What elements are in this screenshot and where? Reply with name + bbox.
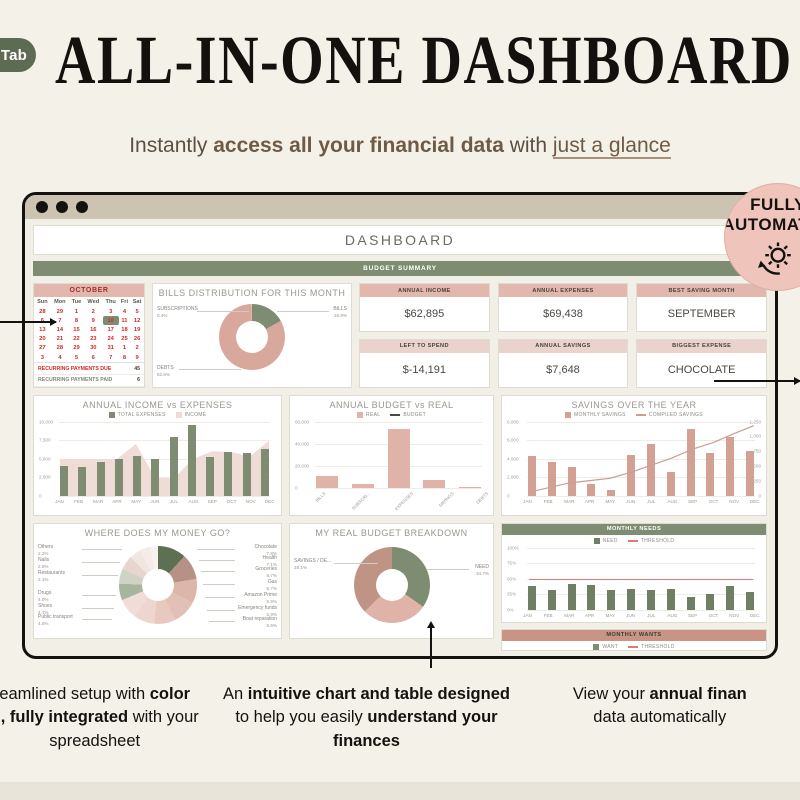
- calendar-day[interactable]: 8: [69, 316, 84, 325]
- x-tick-label: MAY: [131, 499, 140, 504]
- monthly-needs-plot: 0%25%50%75%100%: [507, 548, 761, 610]
- x-tick-label: MAR: [564, 613, 573, 618]
- page-subtitle: Instantly access all your financial data…: [0, 134, 800, 158]
- calendar-day[interactable]: 23: [84, 335, 103, 344]
- money-label: Nails2.9%: [38, 557, 49, 571]
- budget-label-need: NEED34.7%: [475, 564, 489, 578]
- x-tick-label: DEC: [265, 499, 274, 504]
- line-series: [528, 422, 754, 496]
- x-tick-label: EXPENSES: [394, 491, 425, 522]
- monthly-needs-title: MONTHLY NEEDS: [502, 524, 766, 535]
- subtitle-underlined: just a glance: [553, 134, 671, 159]
- calendar-panel: OCTOBER SunMonTueWedThuFriSat 2829123456…: [33, 283, 145, 388]
- legend-need: NEED: [594, 538, 618, 544]
- bills-distribution-card: BILLS DISTRIBUTION FOR THIS MONTH SUBSCR…: [152, 283, 352, 388]
- calendar-week: 20212223242526: [34, 335, 144, 344]
- x-tick-label: JUN: [626, 613, 635, 618]
- bar: [60, 466, 68, 495]
- window-titlebar: [25, 195, 775, 219]
- kpi-card: BEST SAVING MONTHSEPTEMBER: [636, 283, 767, 332]
- bar: [170, 437, 178, 496]
- kpi-label: BIGGEST EXPENSE: [637, 340, 766, 353]
- budget-leader-savings: [334, 563, 378, 564]
- calendar-day[interactable]: 13: [34, 325, 51, 334]
- dashboard-screen: DASHBOARD BUDGET SUMMARY OCTOBER SunMonT…: [25, 219, 775, 656]
- calendar-week: 282912345: [34, 307, 144, 316]
- y-tick-label: 0: [39, 493, 42, 498]
- calendar-day[interactable]: 9: [130, 353, 144, 362]
- monthly-needs-card: MONTHLY NEEDS NEED THRESHOLD 0%25%50%75%…: [501, 523, 767, 623]
- money-label: Boat reparation5.5%: [243, 616, 277, 630]
- y-tick-label: 2,500: [39, 475, 51, 480]
- tab-badge-label: Tab: [1, 47, 27, 64]
- bar: [647, 590, 655, 610]
- kpi-value: $7,648: [499, 353, 628, 387]
- x-tick-label: JUN: [150, 499, 159, 504]
- calendar-day[interactable]: 2: [130, 344, 144, 353]
- bar: [261, 449, 269, 496]
- bar: [133, 456, 141, 496]
- calendar-footer: RECURRING PAYMENTS DUE45RECURRING PAYMEN…: [34, 362, 144, 387]
- x-tick-label: APR: [112, 499, 121, 504]
- y-tick-label-right: 250: [753, 478, 761, 483]
- x-tick-label: SEP: [688, 613, 697, 618]
- calendar-day[interactable]: 19: [130, 325, 144, 334]
- y-tick-label-right: 0: [758, 493, 761, 498]
- caption-center-bold-3: finances: [333, 732, 400, 750]
- x-tick-label: JUL: [647, 613, 656, 618]
- caption-left-text-3: spreadsheet: [49, 732, 140, 750]
- gridline: [527, 610, 755, 611]
- annual-budget-vs-real-xaxis: BILLSSUBSCRI...EXPENSESSAVINGSDEBTS: [311, 491, 486, 511]
- monthly-needs-xaxis: JANFEBMARAPRMAYJUNJULAUGSEPOCTNOVDEC: [523, 613, 759, 618]
- money-label: Gas6.7%: [267, 579, 277, 593]
- money-label: Public transport4.5%: [38, 614, 73, 628]
- annotation-arrow-budget-breakdown: [430, 628, 432, 668]
- x-tick-label: DEBTS: [476, 491, 500, 515]
- calendar-day-today[interactable]: 10: [103, 316, 119, 325]
- calendar-footer-value: 45: [134, 366, 140, 372]
- calendar-table: SunMonTueWedThuFriSat 282912345678910111…: [34, 297, 144, 362]
- savings-over-the-year-title: SAVINGS OVER THE YEAR: [502, 396, 766, 411]
- kpi-grid: ANNUAL INCOME$62,895ANNUAL EXPENSES$69,4…: [359, 283, 767, 388]
- annual-income-vs-expenses-plot: 02,5005,0007,50010,000: [39, 422, 276, 496]
- kpi-card: ANNUAL SAVINGS$7,648: [498, 339, 629, 388]
- x-tick-label: OCT: [709, 499, 718, 504]
- bar: [528, 586, 536, 610]
- caption-center-bold-2: understand your: [367, 708, 497, 726]
- window-maximize-icon[interactable]: [76, 201, 88, 213]
- kpi-card: ANNUAL EXPENSES$69,438: [498, 283, 629, 332]
- x-tick-label: SEP: [688, 499, 697, 504]
- caption-center-bold-1: intuitive chart and table designed: [248, 685, 510, 703]
- annual-income-vs-expenses-card: ANNUAL INCOME vs EXPENSES TOTAL EXPENSES…: [33, 395, 282, 516]
- x-tick-label: DEC: [750, 613, 759, 618]
- bar: [607, 590, 615, 610]
- badge-line-1: FULLY: [750, 195, 800, 215]
- annotation-arrow-calendar: [0, 321, 56, 323]
- y-tick-label: 6,000: [507, 438, 519, 443]
- money-leader: [197, 549, 235, 550]
- caption-right-text-2: data automatically: [593, 708, 726, 726]
- money-leader: [203, 584, 235, 585]
- x-tick-label: APR: [585, 499, 594, 504]
- dashboard-window: DASHBOARD BUDGET SUMMARY OCTOBER SunMonT…: [22, 192, 778, 659]
- budget-summary-bar: BUDGET SUMMARY: [33, 261, 767, 276]
- calendar-day[interactable]: 15: [69, 325, 84, 334]
- y-tick-label: 0: [507, 493, 510, 498]
- bar: [746, 592, 754, 609]
- x-tick-label: FEB: [74, 499, 83, 504]
- bar: [568, 584, 576, 609]
- calendar-day[interactable]: 8: [119, 353, 130, 362]
- kpi-value: $62,895: [360, 297, 489, 331]
- bar: [224, 452, 232, 495]
- calendar-day[interactable]: 1: [119, 344, 130, 353]
- page-title: ALL-IN-ONE DASHBOARD: [55, 22, 755, 100]
- calendar-day[interactable]: 2: [84, 307, 103, 316]
- calendar-week: 3456789: [34, 353, 144, 362]
- threshold-line: [529, 579, 753, 581]
- kpi-label: BEST SAVING MONTH: [637, 284, 766, 297]
- money-leader: [205, 597, 235, 598]
- bar-series: [316, 422, 481, 488]
- y-tick-label: 60,000: [295, 419, 309, 424]
- caption-left-bold-2: g, fully integrated: [0, 708, 128, 726]
- calendar-footer-label: RECURRING PAYMENTS DUE: [38, 366, 111, 372]
- x-tick-label: OCT: [227, 499, 236, 504]
- calendar-day[interactable]: 21: [51, 335, 69, 344]
- bar: [687, 597, 695, 610]
- annual-income-vs-expenses-legend: TOTAL EXPENSES INCOME: [34, 412, 281, 418]
- bar: [78, 467, 86, 495]
- legend-total-expenses: TOTAL EXPENSES: [109, 412, 166, 418]
- bar: [97, 462, 105, 496]
- my-real-budget-breakdown-card: MY REAL BUDGET BREAKDOWN SAVINGS / DE...…: [289, 523, 494, 639]
- legend-budget: BUDGET: [390, 412, 426, 418]
- legend-wants-threshold: THRESHOLD: [628, 644, 675, 650]
- calendar-footer-label: RECURRING PAYMENTS PAID: [38, 377, 112, 383]
- monthly-wants-title: MONTHLY WANTS: [502, 630, 766, 641]
- money-label: Amazon Prime5.9%: [244, 592, 277, 606]
- y-tick-label: 5,000: [39, 456, 51, 461]
- kpi-label: ANNUAL SAVINGS: [499, 340, 628, 353]
- y-tick-label: 75%: [507, 561, 516, 566]
- caption-row: eamlined setup with color g, fully integ…: [0, 683, 800, 753]
- money-label: Drugs4.0%: [38, 590, 51, 604]
- y-tick-label: 50%: [507, 576, 516, 581]
- money-leader: [207, 610, 235, 611]
- x-tick-label: AUG: [667, 499, 676, 504]
- calendar-day[interactable]: 9: [84, 316, 103, 325]
- x-tick-label: JAN: [55, 499, 64, 504]
- calendar-day[interactable]: 6: [84, 353, 103, 362]
- monthly-wants-legend: WANT THRESHOLD: [502, 644, 766, 650]
- window-minimize-icon[interactable]: [56, 201, 68, 213]
- money-leader: [209, 621, 235, 622]
- calendar-day[interactable]: 12: [130, 316, 144, 325]
- bar: [151, 459, 159, 496]
- y-tick-label: 8,000: [507, 419, 519, 424]
- calendar-week: 272829303112: [34, 344, 144, 353]
- y-tick-label: 20,000: [295, 463, 309, 468]
- x-tick-label: NOV: [729, 499, 738, 504]
- x-tick-label: OCT: [709, 613, 718, 618]
- calendar-day[interactable]: 30: [84, 344, 103, 353]
- y-tick-label: 40,000: [295, 441, 309, 446]
- calendar-day[interactable]: 29: [51, 307, 69, 316]
- monthly-wants-card: MONTHLY WANTS WANT THRESHOLD: [501, 629, 767, 651]
- money-leader: [82, 595, 116, 596]
- calendar-day[interactable]: 16: [84, 325, 103, 334]
- calendar-day[interactable]: 25: [119, 335, 130, 344]
- y-tick-label: 10,000: [39, 419, 53, 424]
- subtitle-part-2: with: [504, 134, 553, 157]
- bills-label-bills: BILLS16.8%: [333, 306, 347, 320]
- calendar-day[interactable]: 17: [103, 325, 119, 334]
- subtitle-highlight: access all your financial data: [213, 134, 504, 157]
- calendar-day[interactable]: 27: [34, 344, 51, 353]
- calendar-day[interactable]: 11: [119, 316, 130, 325]
- bills-donut: [219, 304, 285, 370]
- calendar-day[interactable]: 4: [119, 307, 130, 316]
- bills-distribution-title: BILLS DISTRIBUTION FOR THIS MONTH: [153, 284, 351, 299]
- money-label: Others2.2%: [38, 544, 53, 558]
- money-leader: [82, 575, 118, 576]
- kpi-value: SEPTEMBER: [637, 297, 766, 331]
- x-tick-label: BILLS: [315, 491, 338, 514]
- x-tick-label: AUG: [667, 613, 676, 618]
- y-tick-label: 4,000: [507, 456, 519, 461]
- x-tick-label: FEB: [544, 613, 553, 618]
- tab-badge: Tab: [0, 38, 36, 72]
- savings-over-the-year-card: SAVINGS OVER THE YEAR MONTHLY SAVINGS CO…: [501, 395, 767, 516]
- y-tick-label: 0%: [507, 607, 514, 612]
- annual-income-vs-expenses-title: ANNUAL INCOME vs EXPENSES: [34, 396, 281, 411]
- annual-budget-vs-real-title: ANNUAL BUDGET vs REAL: [290, 396, 493, 411]
- annotation-arrow-kpi: [714, 380, 800, 382]
- x-tick-label: NOV: [246, 499, 255, 504]
- bar: [115, 459, 123, 496]
- calendar-day[interactable]: 7: [103, 353, 119, 362]
- calendar-weekday: Tue: [69, 297, 84, 307]
- caption-left: eamlined setup with color g, fully integ…: [0, 683, 221, 753]
- calendar-day[interactable]: 5: [69, 353, 84, 362]
- bar-series: [60, 422, 269, 496]
- annual-budget-vs-real-legend: REAL BUDGET: [290, 412, 493, 418]
- window-close-icon[interactable]: [36, 201, 48, 213]
- y-tick-label: 7,500: [39, 438, 51, 443]
- calendar-day[interactable]: 5: [130, 307, 144, 316]
- money-donut: [119, 546, 197, 624]
- money-label: Groceries6.7%: [255, 566, 277, 580]
- calendar-weekday: Thu: [103, 297, 119, 307]
- calendar-day[interactable]: 26: [130, 335, 144, 344]
- charts-row-2: WHERE DOES MY MONEY GO? Others2.2%Nails2…: [33, 523, 767, 651]
- y-tick-label-right: 750: [753, 449, 761, 454]
- footer-strip: [0, 782, 800, 800]
- caption-center-text-1: An: [223, 685, 248, 703]
- charts-row-1: ANNUAL INCOME vs EXPENSES TOTAL EXPENSES…: [33, 395, 767, 516]
- where-does-my-money-go-title: WHERE DOES MY MONEY GO?: [34, 524, 281, 539]
- x-tick-label: SUBSCRI...: [350, 491, 381, 522]
- savings-over-the-year-xaxis: JANFEBMARAPRMAYJUNJULAUGSEPOCTNOVDEC: [523, 499, 759, 504]
- monthly-needs-legend: NEED THRESHOLD: [502, 538, 766, 544]
- caption-right-bold-1: annual finan: [650, 685, 747, 703]
- x-tick-label: DEC: [750, 499, 759, 504]
- bar: [587, 585, 595, 610]
- x-tick-label: APR: [585, 613, 594, 618]
- kpi-label: ANNUAL EXPENSES: [499, 284, 628, 297]
- kpi-value: $69,438: [499, 297, 628, 331]
- budget-label-savings: SAVINGS / DE...28.1%: [294, 558, 331, 572]
- savings-over-the-year-plot: 02,0004,0006,0008,00002505007501,0001,25…: [507, 422, 761, 496]
- calendar-day[interactable]: 24: [103, 335, 119, 344]
- bar: [459, 487, 481, 488]
- kpi-value: $-14,191: [360, 353, 489, 387]
- calendar-day[interactable]: 22: [69, 335, 84, 344]
- dashboard-title: DASHBOARD: [345, 232, 455, 248]
- calendar-day[interactable]: 18: [119, 325, 130, 334]
- calendar-footer-row: RECURRING PAYMENTS PAID6: [34, 375, 144, 387]
- x-tick-label: MAY: [606, 499, 615, 504]
- calendar-weekday: Sun: [34, 297, 51, 307]
- calendar-footer-value: 6: [137, 377, 140, 383]
- y-tick-label-right: 500: [753, 464, 761, 469]
- bills-leader-debts: [179, 369, 241, 370]
- legend-threshold: THRESHOLD: [628, 538, 675, 544]
- x-tick-label: SEP: [208, 499, 217, 504]
- caption-left-bold-1: color: [150, 685, 190, 703]
- calendar-month: OCTOBER: [34, 284, 144, 297]
- gridline: [59, 496, 270, 497]
- caption-center: An intuitive chart and table designed to…: [221, 683, 511, 753]
- annual-income-vs-expenses-xaxis: JANFEBMARAPRMAYJUNJULAUGSEPOCTNOVDEC: [55, 499, 274, 504]
- bills-label-debts: DEBTS82.8%: [157, 365, 174, 379]
- dashboard-header: DASHBOARD: [33, 225, 767, 255]
- caption-left-text-2: with your: [128, 708, 199, 726]
- x-tick-label: JAN: [523, 613, 532, 618]
- bar: [706, 594, 714, 610]
- annual-budget-vs-real-card: ANNUAL BUDGET vs REAL REAL BUDGET 020,00…: [289, 395, 494, 516]
- legend-want: WANT: [593, 644, 618, 650]
- calendar-day[interactable]: 1: [69, 307, 84, 316]
- kpi-card: LEFT TO SPEND$-14,191: [359, 339, 490, 388]
- x-tick-label: MAR: [93, 499, 102, 504]
- kpi-label: ANNUAL INCOME: [360, 284, 489, 297]
- money-label: Restaurants3.1%: [38, 570, 65, 584]
- bar: [548, 590, 556, 610]
- calendar-footer-row: RECURRING PAYMENTS DUE45: [34, 363, 144, 375]
- calendar-day[interactable]: 28: [51, 344, 69, 353]
- y-tick-label: 25%: [507, 592, 516, 597]
- money-leader: [82, 619, 112, 620]
- y-tick-label: 0: [295, 485, 298, 490]
- bar: [627, 589, 635, 610]
- legend-real: REAL: [357, 412, 380, 418]
- calendar-week: 13141516171819: [34, 325, 144, 334]
- calendar-day[interactable]: 31: [103, 344, 119, 353]
- monthly-panels: MONTHLY NEEDS NEED THRESHOLD 0%25%50%75%…: [501, 523, 767, 651]
- annual-budget-vs-real-plot: 020,00040,00060,000: [295, 422, 488, 488]
- x-tick-label: NOV: [729, 613, 738, 618]
- savings-over-the-year-legend: MONTHLY SAVINGS COMPILED SAVINGS: [502, 412, 766, 418]
- calendar-day[interactable]: 14: [51, 325, 69, 334]
- caption-left-text-1: eamlined setup with: [0, 685, 150, 703]
- calendar-day[interactable]: 3: [34, 353, 51, 362]
- y-tick-label: 100%: [507, 545, 519, 550]
- bar: [423, 480, 445, 488]
- my-real-budget-breakdown-title: MY REAL BUDGET BREAKDOWN: [290, 524, 493, 539]
- x-tick-label: JUL: [169, 499, 178, 504]
- x-tick-label: JAN: [523, 499, 532, 504]
- calendar-day[interactable]: 28: [34, 307, 51, 316]
- legend-monthly-savings: MONTHLY SAVINGS: [565, 412, 626, 418]
- calendar-weekday: Fri: [119, 297, 130, 307]
- bills-leader-bills: [277, 311, 329, 312]
- money-leader: [82, 608, 114, 609]
- bar: [352, 484, 374, 488]
- calendar-day[interactable]: 29: [69, 344, 84, 353]
- x-tick-label: JUN: [626, 499, 635, 504]
- subtitle-part-1: Instantly: [129, 134, 213, 157]
- calendar-day[interactable]: 3: [103, 307, 119, 316]
- calendar-day[interactable]: 4: [51, 353, 69, 362]
- budget-leader-need: [427, 569, 469, 570]
- gridline: [527, 496, 755, 497]
- gear-refresh-icon: [756, 237, 800, 277]
- bills-label-subscriptions: SUBSCRIPTIONS0.4%: [157, 306, 198, 320]
- budget-summary-label: BUDGET SUMMARY: [363, 265, 437, 272]
- bar: [316, 476, 338, 488]
- where-does-my-money-go-card: WHERE DOES MY MONEY GO? Others2.2%Nails2…: [33, 523, 282, 639]
- kpi-card: ANNUAL INCOME$62,895: [359, 283, 490, 332]
- calendar-weekday: Mon: [51, 297, 69, 307]
- calendar-day[interactable]: 20: [34, 335, 51, 344]
- x-tick-label: MAR: [564, 499, 573, 504]
- kpi-label: LEFT TO SPEND: [360, 340, 489, 353]
- money-leader: [82, 549, 122, 550]
- y-tick-label: 2,000: [507, 475, 519, 480]
- bills-leader-subscriptions: [197, 311, 249, 312]
- caption-right-text-1: View your: [573, 685, 650, 703]
- badge-line-2: AUTOMATED: [724, 215, 800, 235]
- bar: [388, 429, 410, 488]
- calendar-weekday: Wed: [84, 297, 103, 307]
- legend-income: INCOME: [176, 412, 207, 418]
- calendar-weekday: Sat: [130, 297, 144, 307]
- bar: [667, 589, 675, 610]
- x-tick-label: FEB: [544, 499, 553, 504]
- x-tick-label: JUL: [647, 499, 656, 504]
- x-tick-label: MAY: [606, 613, 615, 618]
- legend-compiled-savings: COMPILED SAVINGS: [636, 412, 703, 418]
- summary-row: OCTOBER SunMonTueWedThuFriSat 2829123456…: [33, 283, 767, 388]
- money-leader: [199, 560, 235, 561]
- bar: [206, 457, 214, 495]
- x-tick-label: SAVINGS: [437, 491, 465, 519]
- bar: [188, 425, 196, 496]
- gridline: [315, 488, 482, 489]
- my-real-budget-breakdown-chart: [290, 539, 493, 631]
- money-leader: [201, 571, 235, 572]
- bar: [243, 453, 251, 496]
- budget-donut: [354, 547, 430, 623]
- x-tick-label: AUG: [189, 499, 198, 504]
- bar: [726, 586, 734, 610]
- caption-center-text-2: to help you easily: [235, 708, 367, 726]
- money-leader: [82, 562, 120, 563]
